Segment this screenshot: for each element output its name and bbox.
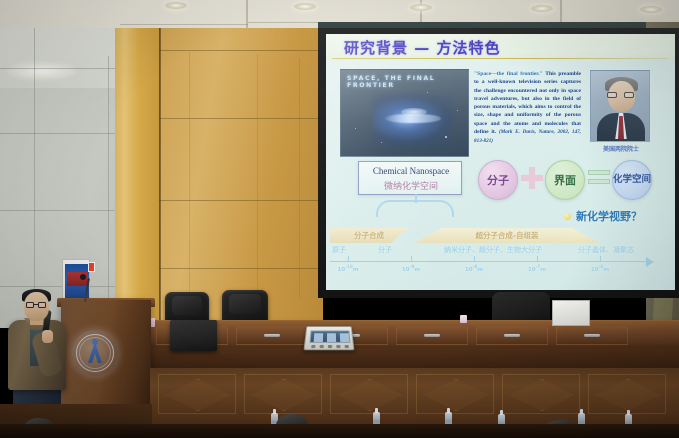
slide-title: 研究背景 — 方法特色	[344, 37, 500, 58]
wood-panel-diamond	[330, 374, 408, 414]
foreground-desk	[0, 424, 679, 438]
axis-tick	[411, 256, 412, 262]
band-molecular-synthesis: 分子合成	[330, 228, 408, 243]
wood-pillar	[115, 28, 159, 328]
axis-tick-label: 10-9m	[402, 264, 420, 273]
recessed-downlight	[531, 5, 553, 12]
wood-panel-diamond	[416, 374, 494, 414]
space-illustration: SPACE, THE FINAL FRONTIER	[340, 69, 469, 157]
scale-label: 纳米分子、超分子、生物大分子	[444, 245, 542, 255]
axis-tick	[537, 256, 538, 262]
axis-tick-label: 10-6m	[591, 264, 609, 273]
axis-tick-label: 10-7m	[528, 264, 546, 273]
axis-arrow-icon	[646, 257, 654, 267]
control-button[interactable]	[345, 345, 349, 348]
equation-result-chemical-space: 化学 空间	[612, 160, 652, 200]
axis-tick	[348, 256, 349, 262]
quote-body: This preamble to a well-known television…	[474, 71, 581, 135]
axis-tick	[474, 256, 475, 262]
scale-label-row: 原子 分子 纳米分子、超分子、生物大分子 分子晶体、凝聚态	[326, 245, 675, 257]
recessed-downlight	[294, 3, 316, 10]
recessed-downlight	[640, 6, 662, 13]
equals-sign-icon	[588, 170, 610, 186]
scale-label: 原子	[332, 245, 346, 255]
equation-term-molecule: 分子	[478, 160, 518, 200]
presenter-hand	[42, 330, 53, 343]
recessed-downlight	[165, 2, 187, 9]
slide-quote-text: "Space—the final frontier." This preambl…	[474, 70, 581, 145]
cup	[460, 315, 467, 323]
nanospace-english-label: Chemical Nanospace	[359, 166, 463, 176]
lecture-hall-scene: 研究背景 — 方法特色 SPACE, THE FINAL FRONTIER "S…	[0, 0, 679, 438]
wood-panel-diamond	[244, 374, 322, 414]
projection-screen: 研究背景 — 方法特色 SPACE, THE FINAL FRONTIER "S…	[326, 34, 675, 290]
scale-label: 分子晶体、凝聚态	[578, 245, 634, 255]
axis-tick-label: 10-10m	[337, 264, 358, 273]
chemical-nanospace-box: Chemical Nanospace 微纳化学空间	[358, 161, 462, 195]
bullet-dot-icon	[564, 213, 571, 220]
wood-wall-panels	[159, 28, 323, 328]
table-front	[150, 348, 679, 368]
drawer-handle[interactable]	[264, 334, 280, 337]
control-button[interactable]	[328, 345, 332, 348]
axis-tick	[600, 256, 601, 262]
result-line-2: 空间	[632, 175, 651, 185]
monitor	[552, 300, 590, 326]
new-chemistry-vision-text: 新化学视野？	[576, 208, 642, 224]
av-control-panel[interactable]	[304, 326, 355, 350]
space-image-caption: SPACE, THE FINAL FRONTIER	[347, 75, 468, 89]
eyeglasses-icon	[26, 302, 48, 308]
equation-term-interface: 界面	[545, 160, 585, 200]
control-button[interactable]	[320, 345, 324, 348]
wood-panel-diamond	[158, 374, 236, 414]
microphone-head-icon	[80, 274, 86, 280]
wood-panel-diamond	[502, 374, 580, 414]
quote-lead: "Space—the final frontier."	[474, 71, 543, 77]
laptop-computer[interactable]	[170, 320, 217, 351]
plus-sign-icon	[521, 167, 543, 189]
result-line-1: 化学	[613, 175, 632, 185]
scale-label: 分子	[378, 245, 392, 255]
portrait-photo	[590, 70, 650, 142]
drawer-handle[interactable]	[584, 334, 600, 337]
axis-tick-label: 10-8m	[465, 264, 483, 273]
control-panel-screen	[310, 331, 351, 343]
recessed-downlight	[410, 4, 432, 11]
wall-sign	[88, 262, 95, 272]
nanospace-chinese-label: 微纳化学空间	[359, 179, 463, 192]
control-button[interactable]	[311, 345, 315, 348]
university-emblem	[72, 330, 118, 376]
control-button[interactable]	[336, 345, 340, 348]
curly-brace-icon	[376, 200, 454, 217]
wood-panel-diamond	[588, 374, 666, 414]
portrait-caption: 美国两院院士	[588, 144, 654, 153]
drawer-handle[interactable]	[504, 334, 520, 337]
drawer-handle[interactable]	[424, 334, 440, 337]
band-supramolecular-selfassembly: 超分子合成-自组装	[414, 228, 600, 243]
